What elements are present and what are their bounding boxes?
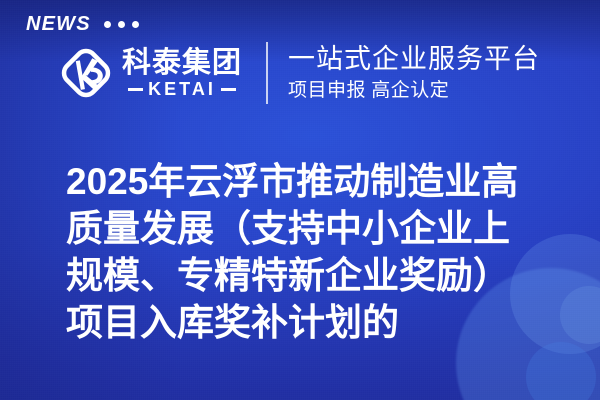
tagline-block: 一站式企业服务平台 项目申报 高企认定 bbox=[288, 44, 540, 103]
news-label: NEWS bbox=[26, 14, 91, 34]
news-dot-icon bbox=[118, 21, 125, 28]
brand-name-en: KETAI bbox=[148, 80, 216, 98]
news-dot-icon bbox=[132, 21, 139, 28]
news-kicker: NEWS bbox=[26, 14, 139, 34]
wordmark-rule-left bbox=[128, 88, 143, 91]
news-banner: NEWS 科泰集团 bbox=[0, 0, 600, 400]
headline-text: 2025年云浮市推动制造业高质量发展（支持中小企业上规模、专精特新企业奖励）项目… bbox=[66, 158, 546, 346]
brand-wordmark: 科泰集团 KETAI bbox=[122, 48, 242, 98]
tagline-sub: 项目申报 高企认定 bbox=[288, 80, 540, 103]
brand-row: 科泰集团 KETAI 一站式企业服务平台 项目申报 高企认定 bbox=[58, 42, 540, 104]
news-dot-icon bbox=[104, 21, 111, 28]
brand-name-en-row: KETAI bbox=[128, 80, 236, 98]
brand-logo-lockup: 科泰集团 KETAI bbox=[58, 45, 242, 101]
brand-divider bbox=[266, 42, 268, 104]
wordmark-rule-right bbox=[221, 88, 236, 91]
news-dots-icon bbox=[104, 21, 139, 28]
tagline-main: 一站式企业服务平台 bbox=[288, 44, 540, 75]
ketai-diamond-k-logo-icon bbox=[58, 45, 114, 101]
brand-name-cn: 科泰集团 bbox=[122, 48, 242, 78]
